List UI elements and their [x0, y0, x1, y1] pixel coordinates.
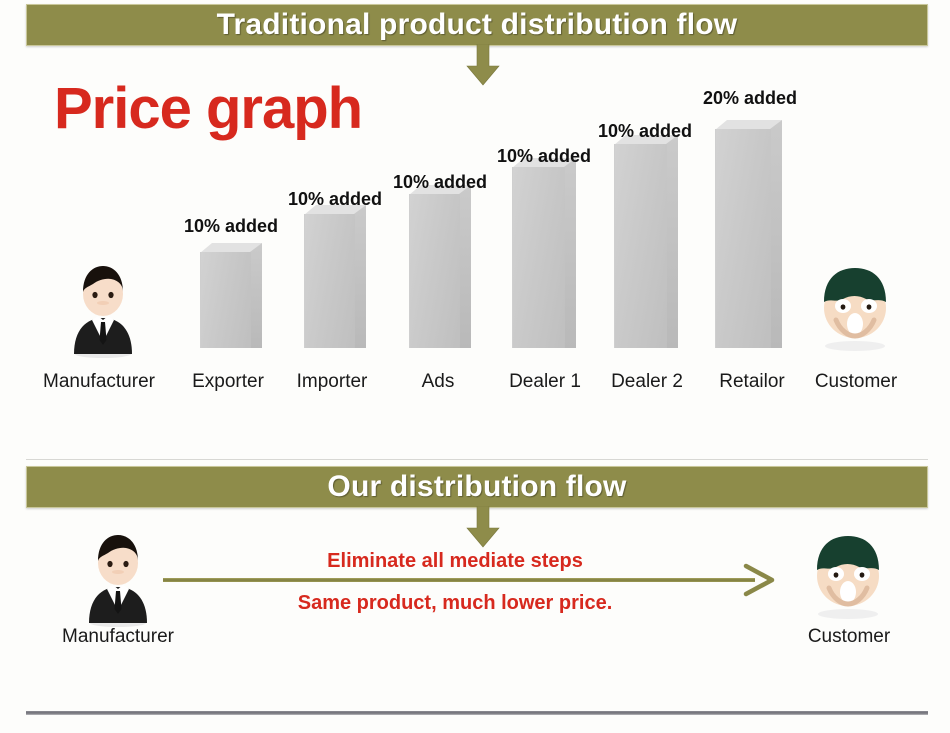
down-arrow-icon	[466, 44, 500, 86]
bottom-label-customer: Customer	[808, 626, 890, 648]
bottom-label-manufacturer: Manufacturer	[62, 626, 174, 648]
bar-dealer-1	[512, 158, 576, 348]
bar-annotation-retailor: 20% added	[703, 88, 797, 109]
right-arrow-head-icon	[742, 562, 778, 598]
bar-front-face	[614, 144, 667, 348]
bar-front-face	[512, 167, 565, 348]
traditional-flow-banner: Traditional product distribution flow	[26, 4, 928, 46]
bar-front-face	[715, 129, 771, 348]
bar-ads	[409, 185, 471, 348]
category-label-ads: Ads	[422, 371, 455, 393]
shocked-customer-avatar-icon	[805, 530, 891, 622]
down-arrow-icon	[466, 506, 500, 548]
category-label-dealer-1: Dealer 1	[509, 371, 581, 393]
our-flow-banner-title: Our distribution flow	[327, 470, 626, 504]
flow-message-primary: Eliminate all mediate steps	[327, 550, 583, 573]
bar-front-face	[409, 194, 460, 348]
category-label-customer: Customer	[815, 371, 897, 393]
flow-message-secondary: Same product, much lower price.	[298, 592, 613, 615]
category-label-importer: Importer	[297, 371, 368, 393]
category-label-manufacturer: Manufacturer	[43, 371, 155, 393]
bar-side-face	[354, 205, 366, 348]
businessman-avatar-icon	[68, 258, 138, 358]
bar-annotation-importer: 10% added	[288, 189, 382, 210]
bar-annotation-dealer-1: 10% added	[497, 146, 591, 167]
bar-side-face	[250, 243, 262, 348]
category-label-retailor: Retailor	[719, 371, 784, 393]
bar-dealer-2	[614, 135, 678, 348]
bar-exporter	[200, 243, 262, 348]
bar-annotation-dealer-2: 10% added	[598, 121, 692, 142]
right-arrow-icon	[163, 578, 755, 582]
footer-divider	[26, 711, 928, 715]
bar-side-face	[770, 120, 782, 348]
bar-side-face	[564, 158, 576, 348]
businessman-avatar-icon	[83, 527, 153, 627]
shocked-customer-avatar-icon	[812, 262, 898, 354]
bar-front-face	[200, 252, 251, 348]
slide-canvas: Traditional product distribution flow Pr…	[0, 0, 950, 733]
bar-side-face	[666, 135, 678, 348]
bar-retailor	[715, 120, 782, 348]
bar-front-face	[304, 214, 355, 348]
bar-importer	[304, 205, 366, 348]
our-flow-banner: Our distribution flow	[26, 466, 928, 508]
category-label-exporter: Exporter	[192, 371, 264, 393]
traditional-flow-banner-title: Traditional product distribution flow	[217, 8, 738, 42]
bar-annotation-ads: 10% added	[393, 172, 487, 193]
section-divider	[26, 459, 928, 460]
bar-annotation-exporter: 10% added	[184, 216, 278, 237]
category-label-dealer-2: Dealer 2	[611, 371, 683, 393]
page-title: Price graph	[54, 80, 362, 138]
bar-side-face	[459, 185, 471, 348]
